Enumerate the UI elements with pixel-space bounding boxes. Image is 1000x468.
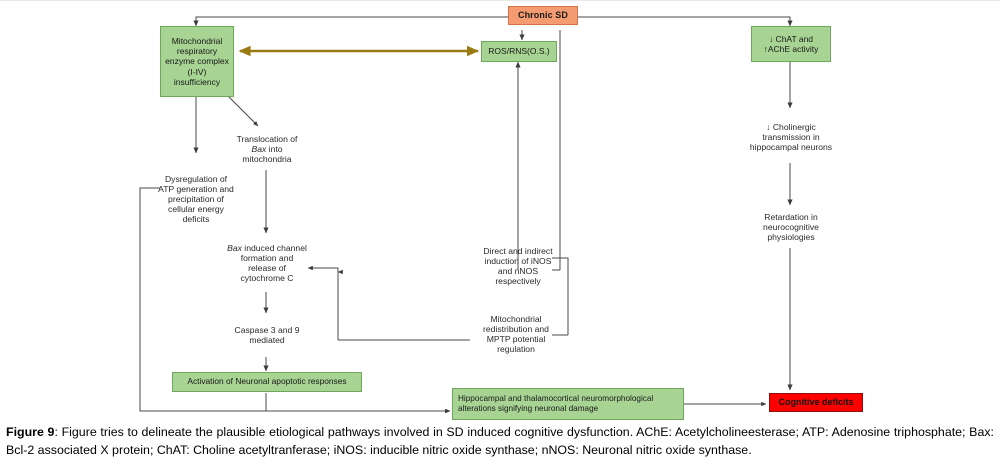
node-retardation-neurocognitive: Retardation in neurocognitive physiologi…	[748, 206, 834, 248]
node-ros-rns-label: ROS/RNS(O.S.)	[488, 46, 549, 56]
node-hippocampal-alterations[interactable]: Hippocampal and thalamocortical neuromor…	[452, 388, 684, 420]
node-atp-dysregulation: Dysregulation of ATP generation and prec…	[158, 155, 234, 243]
node-atp-dysregulation-label: Dysregulation of ATP generation and prec…	[158, 174, 234, 225]
figure-diagram: Chronic SD Mitochondrial respiratory enz…	[0, 0, 1000, 420]
node-chat-ache-label: ↓ ChAT and ↑AChE activity	[756, 34, 826, 54]
node-mptp-redistribution: Mitochondrial redistribution and MPTP po…	[470, 306, 562, 362]
figure-caption: Figure 9: Figure tries to delineate the …	[0, 420, 1000, 468]
node-caspase-mediated: Caspase 3 and 9 mediated	[230, 314, 304, 356]
node-cholinergic-transmission: ↓ Cholinergic transmission in hippocampa…	[748, 110, 834, 164]
node-chronic-sd-label: Chronic SD	[518, 10, 568, 21]
node-hippocampal-alterations-label: Hippocampal and thalamocortical neuromor…	[458, 394, 679, 413]
node-apoptotic-responses-label: Activation of Neuronal apoptotic respons…	[187, 377, 346, 387]
node-cholinergic-transmission-label: ↓ Cholinergic transmission in hippocampa…	[748, 122, 834, 152]
node-cognitive-deficits-label: Cognitive deficits	[778, 397, 853, 408]
node-bax-translocation-label: Translocation of Bax into mitochondria	[228, 134, 306, 164]
node-chronic-sd[interactable]: Chronic SD	[508, 6, 578, 25]
node-mitochondrial-complex-label: Mitochondrial respiratory enzyme complex…	[165, 36, 229, 86]
node-bax-channel-formation-label: Bax induced channel formation and releas…	[226, 243, 308, 284]
node-chat-ache[interactable]: ↓ ChAT and ↑AChE activity	[751, 26, 831, 62]
node-caspase-mediated-label: Caspase 3 and 9 mediated	[230, 325, 304, 345]
node-mitochondrial-complex[interactable]: Mitochondrial respiratory enzyme complex…	[160, 26, 234, 97]
node-cognitive-deficits[interactable]: Cognitive deficits	[769, 393, 863, 412]
node-ros-rns[interactable]: ROS/RNS(O.S.)	[481, 41, 557, 62]
node-retardation-neurocognitive-label: Retardation in neurocognitive physiologi…	[748, 212, 834, 242]
node-mptp-redistribution-label: Mitochondrial redistribution and MPTP po…	[470, 314, 562, 355]
figure-number: Figure 9	[6, 425, 54, 439]
node-bax-channel-formation: Bax induced channel formation and releas…	[226, 234, 308, 292]
node-bax-translocation: Translocation of Bax into mitochondria	[228, 128, 306, 170]
node-inos-nnos-induction-label: Direct and indirect induction of iNOS an…	[478, 246, 558, 287]
node-inos-nnos-induction: Direct and indirect induction of iNOS an…	[478, 238, 558, 294]
figure-caption-text: : Figure tries to delineate the plausibl…	[6, 425, 994, 457]
node-apoptotic-responses[interactable]: Activation of Neuronal apoptotic respons…	[172, 372, 362, 392]
